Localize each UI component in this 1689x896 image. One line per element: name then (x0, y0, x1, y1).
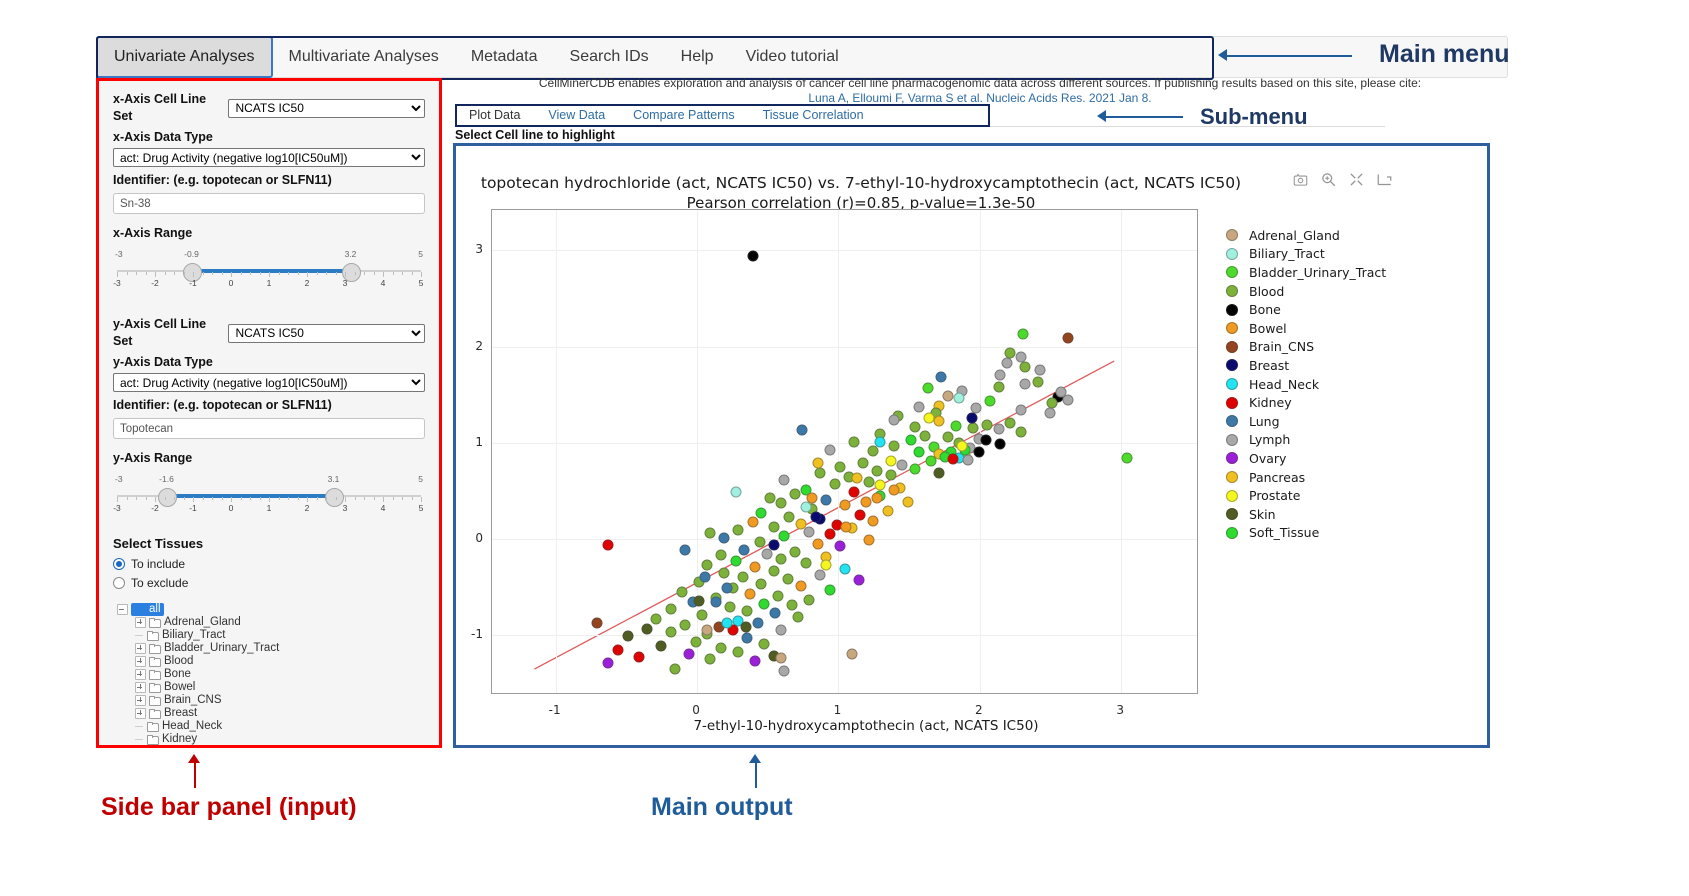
scatter-point[interactable] (849, 486, 860, 497)
scatter-point[interactable] (696, 610, 707, 621)
plot-toolbar[interactable] (1293, 172, 1392, 187)
scatter-point[interactable] (1044, 408, 1055, 419)
tissue-node-bowel[interactable]: Bowel (113, 681, 425, 694)
slider-tickmark (317, 497, 318, 500)
x-axis-tick-label: 0 (692, 703, 700, 717)
scatter-point[interactable] (934, 415, 945, 426)
legend-color-swatch (1226, 359, 1238, 371)
scatter-point[interactable] (758, 598, 769, 609)
expand-icon[interactable] (135, 708, 146, 719)
tissue-node-biliary_tract[interactable]: Biliary_Tract (113, 629, 425, 642)
scatter-point[interactable] (863, 535, 874, 546)
expand-icon[interactable] (135, 695, 146, 706)
scatter-point[interactable] (784, 511, 795, 522)
scatter-point[interactable] (1016, 427, 1027, 438)
y-axis-cell-line-set-label: y-Axis Cell Line Set (113, 316, 222, 350)
scatter-point[interactable] (910, 463, 921, 474)
tissue-node-label: Kidney (162, 733, 197, 745)
scatter-point[interactable] (874, 436, 885, 447)
scatter-point[interactable] (676, 586, 687, 597)
legend-item-breast[interactable]: Breast (1226, 356, 1476, 375)
scatter-point[interactable] (739, 544, 750, 555)
scatter-point[interactable] (925, 456, 936, 467)
slider-tickmark (146, 497, 147, 500)
scatter-point[interactable] (1020, 379, 1031, 390)
scatter-point[interactable] (683, 648, 694, 659)
scatter-point[interactable] (747, 516, 758, 527)
slider-tickmark (345, 497, 346, 502)
scatter-point[interactable] (815, 467, 826, 478)
slider-tickmark (393, 497, 394, 500)
scatter-point[interactable] (1017, 329, 1028, 340)
scatter-point[interactable] (747, 251, 758, 262)
main-menu-item-multivariate-analyses[interactable]: Multivariate Analyses (273, 37, 455, 77)
main-menu-item-metadata[interactable]: Metadata (455, 37, 554, 77)
main-menu-item-help[interactable]: Help (665, 37, 730, 77)
legend-item-soft_tissue[interactable]: Soft_Tissue (1226, 524, 1476, 543)
scatter-point[interactable] (1122, 453, 1133, 464)
legend-item-biliary_tract[interactable]: Biliary_Tract (1226, 245, 1476, 264)
scatter-point[interactable] (872, 465, 883, 476)
slider-tickmark (231, 497, 232, 502)
scatter-point[interactable] (773, 590, 784, 601)
legend-color-swatch (1226, 471, 1238, 483)
scatter-point[interactable] (756, 508, 767, 519)
camera-icon[interactable] (1293, 173, 1308, 186)
scatter-point[interactable] (855, 510, 866, 521)
spacer (113, 294, 425, 314)
slider-tick-label: 2 (305, 503, 310, 513)
scatter-point[interactable] (982, 419, 993, 430)
scatter-point[interactable] (903, 496, 914, 507)
slider-tickmark (383, 497, 384, 502)
scatter-point[interactable] (825, 585, 836, 596)
legend-label: Lymph (1249, 432, 1290, 447)
main-menu-item-search-ids[interactable]: Search IDs (554, 37, 665, 77)
slider-tickmark (393, 272, 394, 275)
scatter-point[interactable] (853, 575, 864, 586)
scatter-point[interactable] (750, 561, 761, 572)
scatter-point[interactable] (733, 646, 744, 657)
scatter-point[interactable] (883, 506, 894, 517)
y-axis-range-min-end: -3 (115, 474, 123, 484)
scatter-point[interactable] (993, 382, 1004, 393)
legend-item-lung[interactable]: Lung (1226, 412, 1476, 431)
tissue-mode-exclude[interactable]: To exclude (113, 576, 425, 590)
scatter-point[interactable] (825, 529, 836, 540)
scatter-point[interactable] (993, 424, 1004, 435)
scatter-point[interactable] (825, 444, 836, 455)
select-cell-line-label: Select Cell line to highlight (455, 128, 615, 142)
scatter-point[interactable] (839, 500, 850, 511)
scatter-point[interactable] (1016, 405, 1027, 416)
scatter-point[interactable] (863, 477, 874, 488)
scatter-point[interactable] (705, 528, 716, 539)
tissue-node-label: Bladder_Urinary_Tract (164, 642, 279, 655)
slider-tick-label: 0 (229, 503, 234, 513)
scatter-point[interactable] (804, 594, 815, 605)
tissue-node-blood[interactable]: Blood (113, 655, 425, 668)
tissue-node-label: Brain_CNS (164, 694, 222, 707)
main-menu-item-label: Search IDs (570, 48, 649, 66)
scatter-point[interactable] (716, 642, 727, 653)
scatter-point[interactable] (821, 494, 832, 505)
scatter-point[interactable] (741, 633, 752, 644)
scatter-point[interactable] (849, 436, 860, 447)
scatter-point[interactable] (758, 638, 769, 649)
scatter-point[interactable] (705, 654, 716, 665)
scatter-point[interactable] (679, 619, 690, 630)
scatter-point[interactable] (778, 475, 789, 486)
legend-item-lymph[interactable]: Lymph (1226, 431, 1476, 450)
legend-item-bowel[interactable]: Bowel (1226, 319, 1476, 338)
scatter-point[interactable] (787, 600, 798, 611)
x-axis-cell-line-set-select[interactable]: NCATS IC50 (228, 99, 425, 118)
slider-tickmark (260, 497, 261, 500)
scatter-point[interactable] (801, 502, 812, 513)
scatter-point[interactable] (753, 617, 764, 628)
tissue-node-adrenal_gland[interactable]: Adrenal_Gland (113, 616, 425, 629)
legend-item-brain_cns[interactable]: Brain_CNS (1226, 338, 1476, 357)
scatter-point[interactable] (716, 550, 727, 561)
scatter-point[interactable] (966, 412, 977, 423)
tissue-node-breast[interactable]: Breast (113, 707, 425, 720)
scatter-point[interactable] (886, 469, 897, 480)
scatter-point[interactable] (782, 573, 793, 584)
scatter-point[interactable] (756, 579, 767, 590)
slider-tickmark (231, 272, 232, 277)
slider-tickmark (184, 497, 185, 500)
tissue-exclude-label: To exclude (131, 576, 188, 590)
scatter-point[interactable] (665, 604, 676, 615)
scatter-point[interactable] (702, 624, 713, 635)
folder-icon (147, 735, 158, 744)
legend-item-skin[interactable]: Skin (1226, 505, 1476, 524)
slider-tickmark (165, 272, 166, 275)
scatter-point[interactable] (968, 423, 979, 434)
legend-item-bone[interactable]: Bone (1226, 300, 1476, 319)
collapse-icon[interactable] (117, 604, 128, 615)
slider-tick-label: -2 (151, 503, 159, 513)
scatter-point[interactable] (867, 515, 878, 526)
x-axis-data-type-label: x-Axis Data Type (113, 129, 425, 146)
gridline-vertical (697, 210, 698, 693)
sub-menu-highlight-box (455, 104, 990, 127)
scatter-point[interactable] (954, 392, 965, 403)
arrow-sidebar (194, 762, 196, 788)
y-axis-tick-label: 2 (461, 339, 483, 353)
scatter-point[interactable] (603, 658, 614, 669)
y-axis-identifier-input[interactable] (113, 418, 425, 439)
scatter-point[interactable] (1062, 332, 1073, 343)
scatter-point[interactable] (846, 648, 857, 659)
tree-stub-icon (135, 735, 144, 744)
scatter-point[interactable] (980, 434, 991, 445)
legend-item-prostate[interactable]: Prostate (1226, 486, 1476, 505)
plot-title: topotecan hydrochloride (act, NCATS IC50… (456, 173, 1266, 213)
expand-icon[interactable] (135, 682, 146, 693)
tissue-root-label: all (149, 603, 161, 616)
scatter-point[interactable] (651, 613, 662, 624)
citation-line-1: CellMinerCDB enables exploration and ana… (455, 76, 1505, 91)
scatter-point[interactable] (768, 521, 779, 532)
annotation-main-menu: Main menu (1379, 40, 1510, 69)
legend-label: Prostate (1249, 488, 1301, 503)
scatter-point[interactable] (744, 588, 755, 599)
y-axis-tick-label: 0 (461, 531, 483, 545)
tissue-node-head_neck[interactable]: Head_Neck (113, 720, 425, 733)
tissue-tree[interactable]: allAdrenal_GlandBiliary_TractBladder_Uri… (113, 603, 425, 745)
x-axis-range-low-value: -0.9 (184, 249, 199, 259)
x-axis-tick-label: -1 (549, 703, 561, 717)
tissue-node-label: Breast (164, 707, 197, 720)
slider-tickmark (155, 272, 156, 277)
scatter-point[interactable] (914, 402, 925, 413)
slider-tick-label: 5 (419, 503, 424, 513)
scatter-point[interactable] (730, 556, 741, 567)
scatter-point[interactable] (740, 621, 751, 632)
sidebar-panel: x-Axis Cell Line Set NCATS IC50 x-Axis D… (99, 81, 439, 745)
scatter-point[interactable] (801, 558, 812, 569)
scatter-point[interactable] (603, 539, 614, 550)
scatter-point[interactable] (790, 488, 801, 499)
slider-tick-label: 3 (343, 278, 348, 288)
scatter-point[interactable] (679, 544, 690, 555)
y-axis-data-type-select[interactable]: act: Drug Activity (negative log10[IC50u… (113, 373, 425, 392)
scatter-point[interactable] (733, 525, 744, 536)
legend-color-swatch (1226, 397, 1238, 409)
scatter-point[interactable] (942, 390, 953, 401)
scatter-point[interactable] (920, 431, 931, 442)
scatter-point[interactable] (951, 420, 962, 431)
scatter-point[interactable] (778, 531, 789, 542)
tissue-node-brain_cns[interactable]: Brain_CNS (113, 694, 425, 707)
reset-axes-icon[interactable] (1349, 172, 1364, 187)
slider-tickmark (184, 272, 185, 275)
tissue-root-chip[interactable]: all (131, 603, 164, 616)
scatter-point[interactable] (835, 540, 846, 551)
tissue-node-bone[interactable]: Bone (113, 668, 425, 681)
scatter-point[interactable] (722, 583, 733, 594)
scatter-point[interactable] (768, 539, 779, 550)
slider-tickmark (203, 272, 204, 275)
scatter-point[interactable] (888, 414, 899, 425)
tissue-node-all[interactable]: all (113, 603, 425, 616)
legend-item-bladder_urinary_tract[interactable]: Bladder_Urinary_Tract (1226, 263, 1476, 282)
x-axis-data-type-select[interactable]: act: Drug Activity (negative log10[IC50u… (113, 148, 425, 167)
scatter-point[interactable] (741, 606, 752, 617)
scatter-point[interactable] (935, 372, 946, 383)
scatter-point[interactable] (613, 644, 624, 655)
scatter-point[interactable] (886, 456, 897, 467)
citation-link[interactable]: Luna A, Elloumi F, Varma S et al. Nuclei… (808, 91, 1151, 105)
x-axis-range-slider[interactable]: -3 5 -0.9 3.2 -3-2-1012345 (113, 248, 425, 294)
scatter-point[interactable] (592, 617, 603, 628)
legend-color-swatch (1226, 341, 1238, 353)
scatter-point[interactable] (860, 496, 871, 507)
legend-label: Brain_CNS (1249, 339, 1314, 354)
y-axis-range-low-value: -1.6 (159, 474, 174, 484)
scatter-point[interactable] (956, 440, 967, 451)
scatter-point[interactable] (1055, 386, 1066, 397)
tissue-node-label: Bowel (164, 681, 195, 694)
scatter-point[interactable] (995, 369, 1006, 380)
tissue-mode-include[interactable]: To include (113, 557, 425, 571)
slider-tickmark (174, 497, 175, 500)
scatter-point[interactable] (750, 656, 761, 667)
main-menu-item-video-tutorial[interactable]: Video tutorial (730, 37, 855, 77)
scatter-point[interactable] (724, 602, 735, 613)
scatter-point[interactable] (623, 631, 634, 642)
scatter-point[interactable] (812, 538, 823, 549)
scatter-point[interactable] (1033, 377, 1044, 388)
scatter-point[interactable] (857, 458, 868, 469)
scatter-point[interactable] (641, 623, 652, 634)
legend-item-head_neck[interactable]: Head_Neck (1226, 375, 1476, 394)
scatter-point[interactable] (995, 438, 1006, 449)
legend-item-pancreas[interactable]: Pancreas (1226, 468, 1476, 487)
legend-item-adrenal_gland[interactable]: Adrenal_Gland (1226, 226, 1476, 245)
scatter-point[interactable] (1016, 352, 1027, 363)
scatter-point[interactable] (754, 536, 765, 547)
slider-tickmark (402, 497, 403, 500)
expand-icon[interactable] (135, 643, 146, 654)
scatter-point[interactable] (719, 533, 730, 544)
scatter-point[interactable] (872, 492, 883, 503)
slider-tick-label: -2 (151, 278, 159, 288)
main-menu-item-label: Metadata (471, 48, 538, 66)
y-axis-cell-line-set-select[interactable]: NCATS IC50 (228, 324, 425, 343)
scatter-point[interactable] (806, 492, 817, 503)
slider-tickmark (222, 272, 223, 275)
scatter-point[interactable] (775, 554, 786, 565)
scatter-point[interactable] (815, 569, 826, 580)
scatter-point[interactable] (730, 486, 741, 497)
tissue-node-kidney[interactable]: Kidney (113, 733, 425, 745)
scatter-point[interactable] (829, 479, 840, 490)
legend-color-swatch (1226, 434, 1238, 446)
scatter-point[interactable] (795, 581, 806, 592)
legend-label: Bladder_Urinary_Tract (1249, 265, 1386, 280)
scatter-point[interactable] (699, 571, 710, 582)
scatter-point[interactable] (910, 422, 921, 433)
scatter-point[interactable] (792, 612, 803, 623)
scatter-point[interactable] (985, 396, 996, 407)
slider-tickmark (136, 272, 137, 275)
scatter-point[interactable] (770, 608, 781, 619)
scatter-point[interactable] (691, 637, 702, 648)
scatter-point[interactable] (905, 434, 916, 445)
slider-tickmark (117, 272, 118, 277)
scatter-point[interactable] (665, 627, 676, 638)
legend-item-ovary[interactable]: Ovary (1226, 449, 1476, 468)
main-menu-item-label: Multivariate Analyses (289, 48, 439, 66)
scatter-point[interactable] (934, 467, 945, 478)
scatter-point[interactable] (839, 563, 850, 574)
legend-item-blood[interactable]: Blood (1226, 282, 1476, 301)
y-axis-range-high-value: 3.1 (328, 474, 340, 484)
main-menu-item-univariate-analyses[interactable]: Univariate Analyses (96, 36, 273, 78)
autoscale-icon[interactable] (1377, 172, 1392, 187)
scatter-point[interactable] (768, 565, 779, 576)
scatter-point[interactable] (821, 560, 832, 571)
scatter-point[interactable] (710, 596, 721, 607)
expand-icon[interactable] (135, 617, 146, 628)
scatter-point[interactable] (1034, 364, 1045, 375)
scatter-point[interactable] (888, 484, 899, 495)
main-menu-item-label: Video tutorial (746, 48, 839, 66)
scatter-point[interactable] (1004, 348, 1015, 359)
scatter-point[interactable] (888, 440, 899, 451)
scatter-point[interactable] (775, 653, 786, 664)
scatter-point[interactable] (973, 446, 984, 457)
legend-item-kidney[interactable]: Kidney (1226, 393, 1476, 412)
zoom-in-icon[interactable] (1321, 172, 1336, 187)
scatter-point[interactable] (914, 446, 925, 457)
slider-tick-label: 0 (229, 278, 234, 288)
scatter-point[interactable] (1004, 417, 1015, 428)
scatter-point[interactable] (764, 492, 775, 503)
folder-icon (147, 722, 158, 731)
chart-legend[interactable]: Adrenal_GlandBiliary_TractBladder_Urinar… (1226, 226, 1476, 542)
scatter-point[interactable] (924, 412, 935, 423)
scatter-point[interactable] (693, 595, 704, 606)
x-axis-identifier-input[interactable] (113, 193, 425, 214)
scatter-point[interactable] (722, 617, 733, 628)
scatter-point[interactable] (812, 458, 823, 469)
scatter-point[interactable] (962, 455, 973, 466)
y-axis-range-slider[interactable]: -3 5 -1.6 3.1 -3-2-1012345 (113, 473, 425, 519)
scatter-point[interactable] (840, 521, 851, 532)
scatter-point[interactable] (702, 560, 713, 571)
y-axis-range-max-end: 5 (418, 474, 423, 484)
scatter-point[interactable] (804, 527, 815, 538)
y-axis-identifier-label: Identifier: (e.g. topotecan or SLFN11) (113, 397, 425, 414)
scatter-point[interactable] (948, 454, 959, 465)
y-axis-range-label: y-Axis Range (113, 450, 425, 467)
scatter-point[interactable] (634, 652, 645, 663)
scatter-point[interactable] (835, 461, 846, 472)
scatter-point[interactable] (737, 571, 748, 582)
legend-color-swatch (1226, 415, 1238, 427)
annotation-sidebar: Side bar panel (input) (101, 793, 357, 822)
scatter-point[interactable] (778, 665, 789, 676)
scatter-point[interactable] (922, 382, 933, 393)
scatter-point[interactable] (1002, 357, 1013, 368)
slider-tickmark (279, 272, 280, 275)
scatter-point[interactable] (655, 640, 666, 651)
slider-tickmark (298, 497, 299, 500)
scatter-point[interactable] (897, 459, 908, 470)
scatter-point[interactable] (942, 432, 953, 443)
expand-icon[interactable] (135, 669, 146, 680)
scatter-point[interactable] (852, 473, 863, 484)
scatter-point[interactable] (811, 511, 822, 522)
scatter-point[interactable] (1020, 361, 1031, 372)
scatter-point[interactable] (874, 480, 885, 491)
slider-tickmark (402, 272, 403, 275)
scatter-point[interactable] (669, 663, 680, 674)
tissue-node-bladder_urinary_tract[interactable]: Bladder_Urinary_Tract (113, 642, 425, 655)
scatter-point[interactable] (797, 425, 808, 436)
expand-icon[interactable] (135, 656, 146, 667)
scatter-point[interactable] (775, 625, 786, 636)
x-axis-slider-ticks: -3-2-1012345 (117, 272, 421, 288)
scatter-point[interactable] (719, 567, 730, 578)
slider-tickmark (260, 272, 261, 275)
scatter-point[interactable] (775, 498, 786, 509)
scatter-point[interactable] (790, 546, 801, 557)
